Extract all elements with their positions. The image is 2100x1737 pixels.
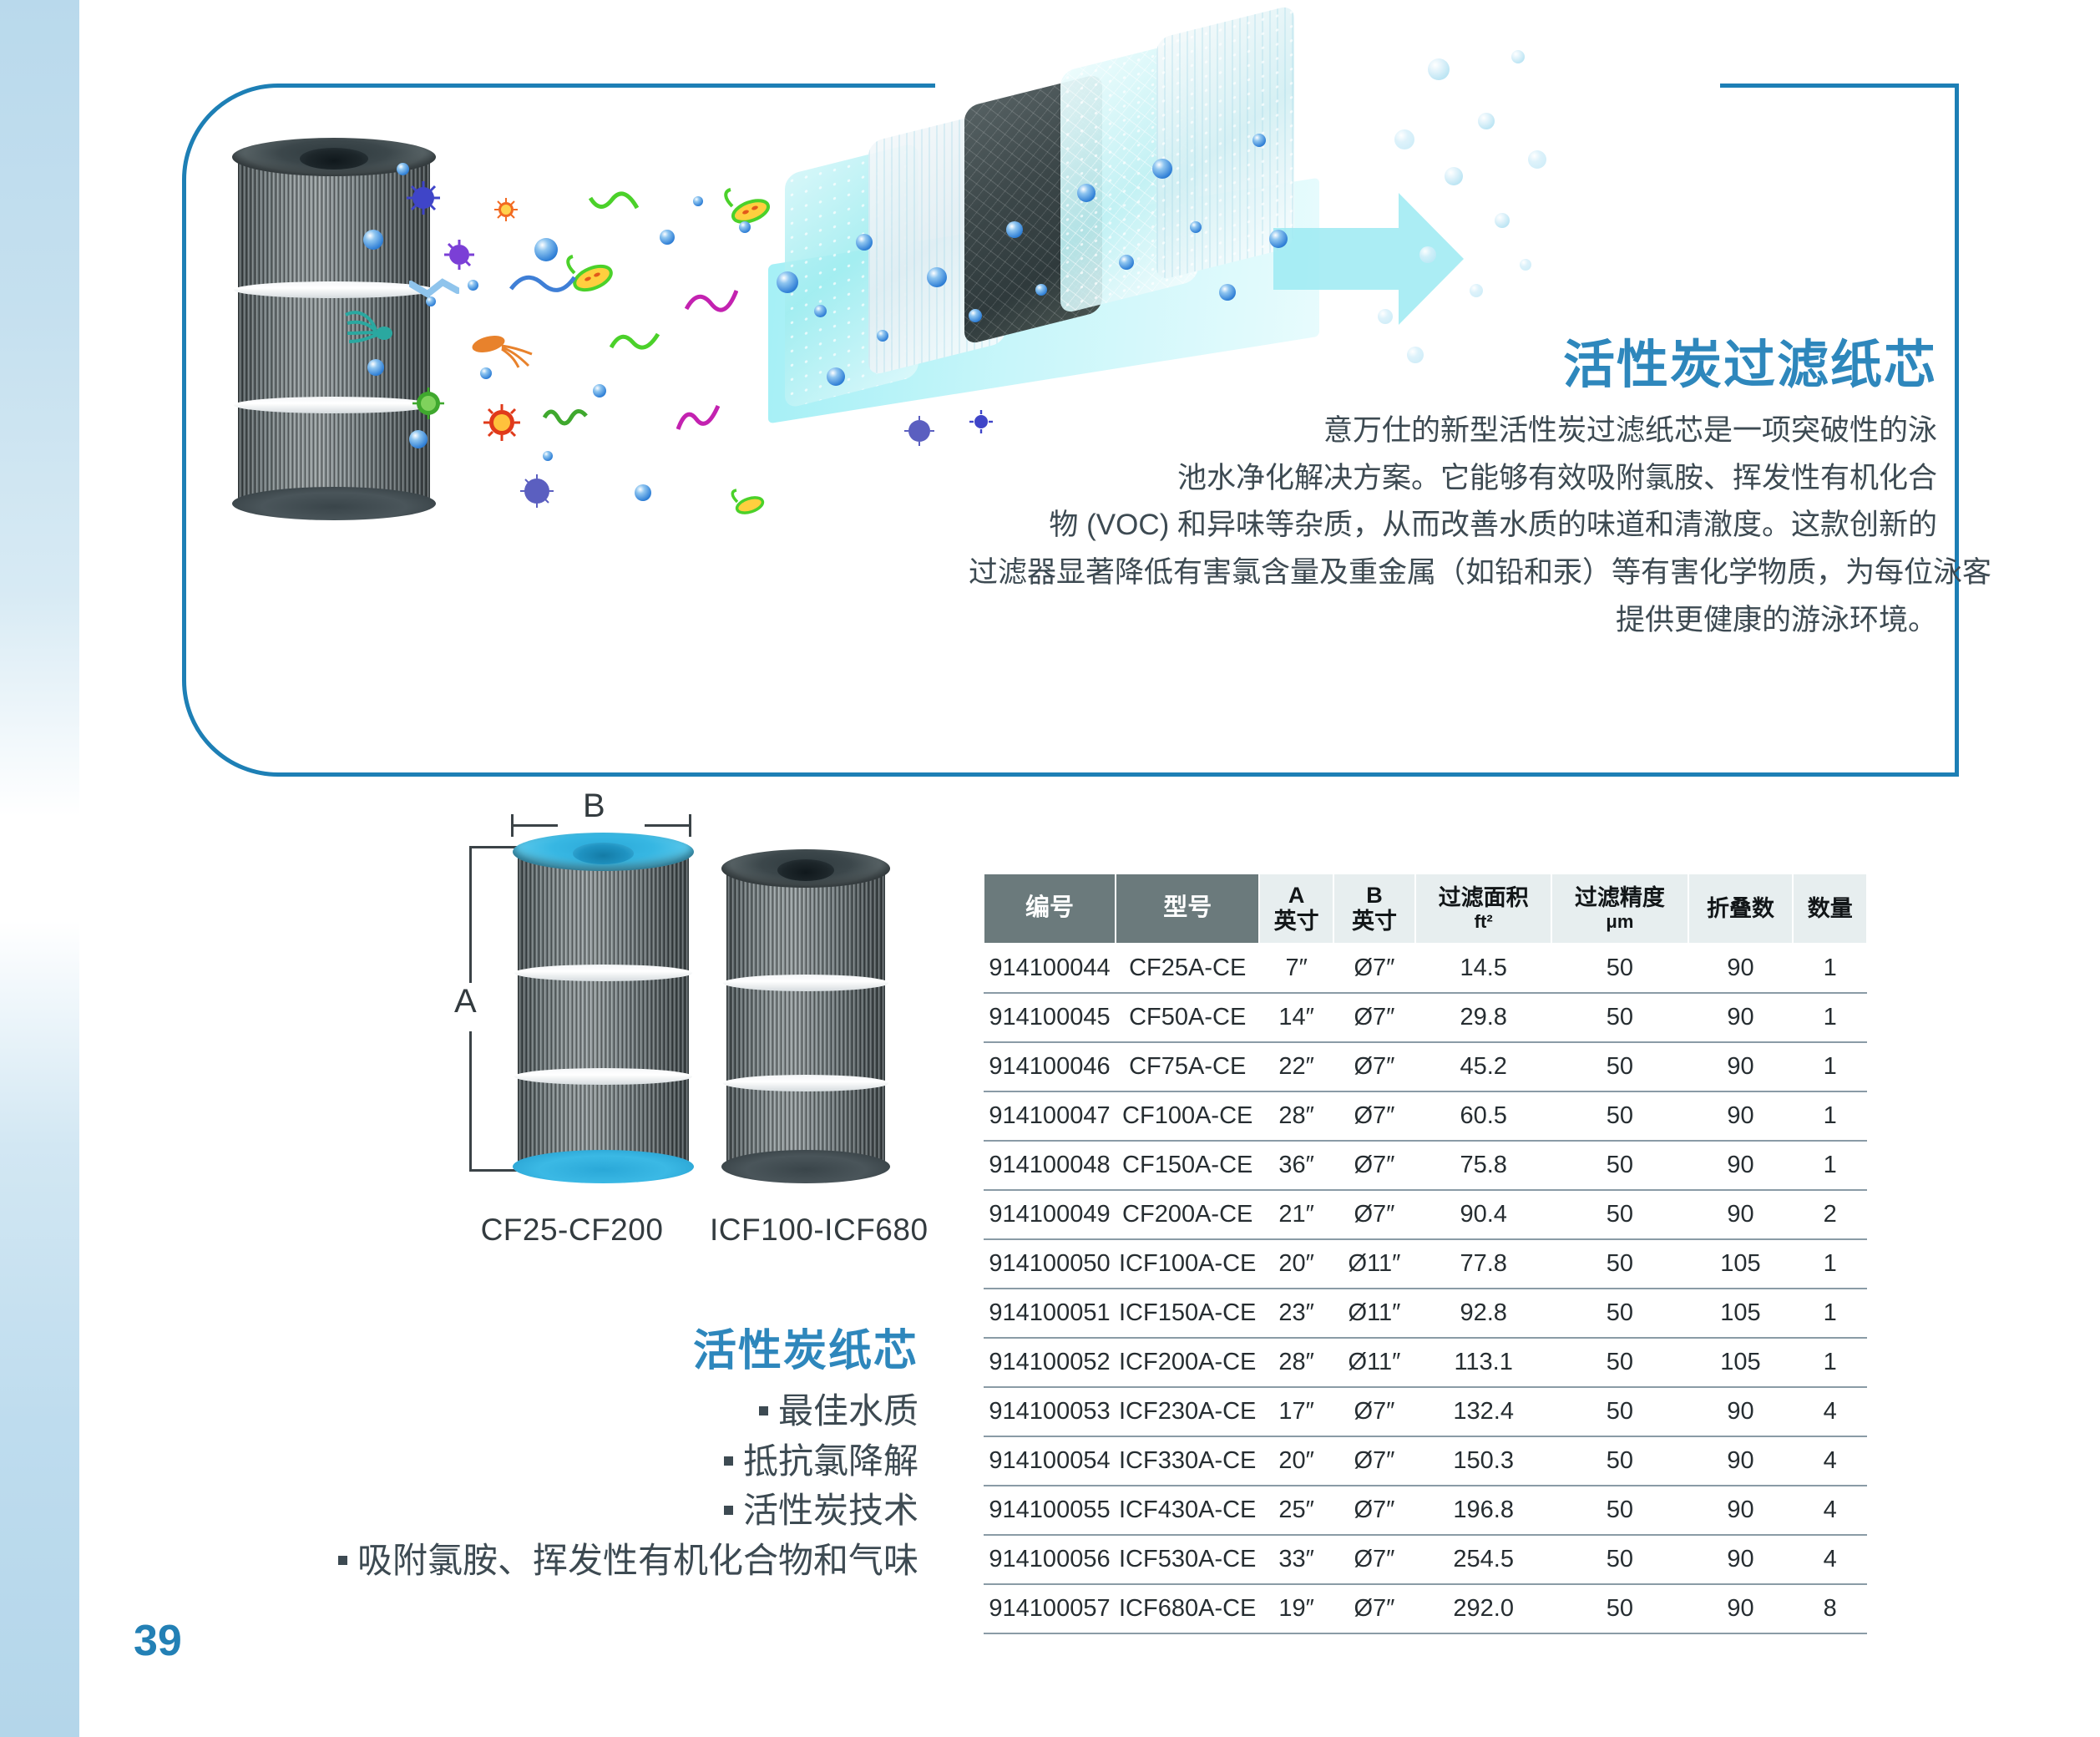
table-row: 914100049CF200A-CE21″Ø7″90.450902 xyxy=(984,1190,1867,1239)
table-cell: 50 xyxy=(1551,1091,1688,1141)
hero-copy-block: 活性炭过滤纸芯 意万仕的新型活性炭过滤纸芯是一项突破性的泳 池水净化解决方案。它… xyxy=(969,338,1937,645)
bubble xyxy=(693,196,703,206)
bubble xyxy=(363,230,383,250)
bubble xyxy=(877,330,888,342)
clean-bubble xyxy=(1470,284,1483,297)
table-cell: 50 xyxy=(1551,1239,1688,1289)
bubble xyxy=(534,238,558,261)
table-cell: 90 xyxy=(1688,1436,1794,1486)
specification-table: 编号型号A英寸B英寸过滤面积ft²过滤精度μm折叠数数量 914100044CF… xyxy=(983,873,1868,1634)
table-column-header: 折叠数 xyxy=(1688,874,1794,944)
table-cell: 1 xyxy=(1793,1239,1867,1289)
dim-a-label: A xyxy=(454,983,477,1020)
table-cell: 914100055 xyxy=(984,1486,1116,1535)
table-row: 914100048CF150A-CE36″Ø7″75.850901 xyxy=(984,1141,1867,1190)
cartridge-band-upper xyxy=(234,281,433,298)
table-cell: 17″ xyxy=(1259,1387,1333,1436)
cartridge-band-upper xyxy=(723,975,888,991)
caption-cf-series: CF25-CF200 xyxy=(468,1213,676,1248)
column-header-label: 过滤精度 xyxy=(1575,885,1665,910)
table-header: 编号型号A英寸B英寸过滤面积ft²过滤精度μm折叠数数量 xyxy=(984,874,1867,944)
table-column-header: 过滤面积ft² xyxy=(1415,874,1551,944)
feature-item-label: 最佳水质 xyxy=(778,1391,918,1431)
page-root: 活性炭过滤纸芯 意万仕的新型活性炭过滤纸芯是一项突破性的泳 池水净化解决方案。它… xyxy=(0,0,2100,1737)
table-cell: Ø11″ xyxy=(1333,1289,1415,1338)
hero-description-line: 意万仕的新型活性炭过滤纸芯是一项突破性的泳 xyxy=(969,408,1937,455)
table-cell: ICF150A-CE xyxy=(1116,1289,1259,1338)
table-cell: 113.1 xyxy=(1415,1338,1551,1387)
table-column-header: 数量 xyxy=(1793,874,1867,944)
table-cell: 90 xyxy=(1688,1387,1794,1436)
table-cell: 28″ xyxy=(1259,1091,1333,1141)
table-cell: 25″ xyxy=(1259,1486,1333,1535)
clean-bubble xyxy=(1445,167,1463,185)
table-cell: Ø7″ xyxy=(1333,1486,1415,1535)
table-cell: 50 xyxy=(1551,993,1688,1042)
cartridge-center-hole xyxy=(300,148,369,170)
table-cell: 1 xyxy=(1793,944,1867,993)
dim-a-tick-bottom xyxy=(469,1169,518,1172)
column-header-label: A xyxy=(1288,883,1305,908)
clean-bubble xyxy=(1495,213,1510,228)
bubble xyxy=(814,305,827,317)
feature-list-item: 最佳水质 xyxy=(167,1386,918,1436)
bacteria-icon xyxy=(726,489,768,517)
table-cell: 75.8 xyxy=(1415,1141,1551,1190)
table-cell: 105 xyxy=(1688,1239,1794,1289)
table-cell: 50 xyxy=(1551,1584,1688,1633)
table-cell: Ø7″ xyxy=(1333,944,1415,993)
table-cell: 914100053 xyxy=(984,1387,1116,1436)
bubble xyxy=(480,367,492,379)
table-cell: ICF330A-CE xyxy=(1116,1436,1259,1486)
table-body: 914100044CF25A-CE7″Ø7″14.550901914100045… xyxy=(984,944,1867,1633)
table-cell: 20″ xyxy=(1259,1239,1333,1289)
fiber-icon xyxy=(610,326,660,356)
table-cell: ICF200A-CE xyxy=(1116,1338,1259,1387)
table-cell: 36″ xyxy=(1259,1141,1333,1190)
bubble xyxy=(1269,230,1288,248)
bullet-square-icon xyxy=(338,1556,347,1565)
table-cell: 50 xyxy=(1551,1486,1688,1535)
clean-bubble xyxy=(1378,309,1393,324)
cartridge-series-captions: CF25-CF200 ICF100-ICF680 xyxy=(468,1213,985,1248)
table-row: 914100051ICF150A-CE23″Ø11″92.8501051 xyxy=(984,1289,1867,1338)
table-cell: CF50A-CE xyxy=(1116,993,1259,1042)
bubble xyxy=(856,234,873,251)
cartridge-band-lower xyxy=(514,1068,692,1085)
bubble xyxy=(426,296,436,306)
table-cell: ICF530A-CE xyxy=(1116,1535,1259,1584)
table-cell: 90 xyxy=(1688,1584,1794,1633)
table-cell: 50 xyxy=(1551,1289,1688,1338)
table-cell: 914100057 xyxy=(984,1584,1116,1633)
column-header-label: 折叠数 xyxy=(1707,896,1774,921)
cartridge-pleated-body xyxy=(726,866,885,1168)
table-cell: Ø11″ xyxy=(1333,1338,1415,1387)
feature-block: 活性炭纸芯 最佳水质 抵抗氯降解 活性炭技术 吸附氯胺、挥发性有机化合物和气味 xyxy=(167,1315,918,1586)
cartridge-band-upper xyxy=(514,965,692,981)
algae-icon xyxy=(543,401,590,433)
table-cell: 90.4 xyxy=(1415,1190,1551,1239)
cf-series-cartridge-image xyxy=(518,849,689,1168)
table-cell: 28″ xyxy=(1259,1338,1333,1387)
clean-bubble xyxy=(1528,150,1546,169)
table-cell: 914100048 xyxy=(984,1141,1116,1190)
bubble xyxy=(1219,284,1236,301)
hero-description-line: 过滤器显著降低有害氯含量及重金属（如铅和汞）等有害化学物质，为每位泳客 xyxy=(969,549,1937,597)
table-cell: 914100054 xyxy=(984,1436,1116,1486)
table-cell: 20″ xyxy=(1259,1436,1333,1486)
table-cell: 90 xyxy=(1688,1141,1794,1190)
table-cell: 23″ xyxy=(1259,1289,1333,1338)
table-cell: 50 xyxy=(1551,1535,1688,1584)
table-cell: 33″ xyxy=(1259,1535,1333,1584)
bubble xyxy=(1152,159,1172,179)
column-header-sublabel: 英寸 xyxy=(1338,909,1411,934)
table-cell: 90 xyxy=(1688,993,1794,1042)
spore-icon xyxy=(518,472,556,510)
table-cell: 1 xyxy=(1793,1338,1867,1387)
caption-icf-series: ICF100-ICF680 xyxy=(686,1213,953,1248)
column-header-label: 过滤面积 xyxy=(1439,885,1529,910)
table-cell: 50 xyxy=(1551,944,1688,993)
table-cell: 50 xyxy=(1551,1338,1688,1387)
hero-description: 意万仕的新型活性炭过滤纸芯是一项突破性的泳 池水净化解决方案。它能够有效吸附氯胺… xyxy=(969,408,1937,644)
table-cell: Ø7″ xyxy=(1333,1190,1415,1239)
table-cell: 90 xyxy=(1688,1042,1794,1091)
cartridge-center-hole xyxy=(777,859,834,881)
table-cell: 914100056 xyxy=(984,1535,1116,1584)
table-cell: 29.8 xyxy=(1415,993,1551,1042)
virus-icon xyxy=(493,196,519,223)
table-cell: 914100047 xyxy=(984,1091,1116,1141)
table-cell: CF25A-CE xyxy=(1116,944,1259,993)
table-cell: 914100045 xyxy=(984,993,1116,1042)
table-cell: CF200A-CE xyxy=(1116,1190,1259,1239)
column-header-unit: ft² xyxy=(1419,911,1547,932)
bubble xyxy=(593,384,606,398)
clean-water-arrow-icon xyxy=(1273,180,1465,338)
protozoa-icon xyxy=(342,305,409,352)
table-cell: 19″ xyxy=(1259,1584,1333,1633)
bubble xyxy=(1252,134,1266,147)
virus-icon xyxy=(443,238,476,271)
virus-icon xyxy=(405,180,442,216)
table-cell: 92.8 xyxy=(1415,1289,1551,1338)
bubble xyxy=(739,221,751,233)
feature-list-item: 活性炭技术 xyxy=(167,1486,918,1536)
table-column-header: B英寸 xyxy=(1333,874,1415,944)
table-row: 914100052ICF200A-CE28″Ø11″113.1501051 xyxy=(984,1338,1867,1387)
bubble xyxy=(1077,184,1096,202)
table-cell: 14.5 xyxy=(1415,944,1551,993)
clean-bubble xyxy=(1428,58,1450,80)
cartridge-pleated-body xyxy=(518,849,689,1168)
table-row: 914100057ICF680A-CE19″Ø7″292.050908 xyxy=(984,1584,1867,1633)
table-cell: ICF100A-CE xyxy=(1116,1239,1259,1289)
table-cell: 21″ xyxy=(1259,1190,1333,1239)
table-row: 914100045CF50A-CE14″Ø7″29.850901 xyxy=(984,993,1867,1042)
table-cell: 90 xyxy=(1688,1535,1794,1584)
bubble xyxy=(635,484,651,501)
table-cell: 914100051 xyxy=(984,1289,1116,1338)
table-cell: 7″ xyxy=(1259,944,1333,993)
icf-series-cartridge-image xyxy=(726,866,885,1168)
table-cell: Ø7″ xyxy=(1333,1535,1415,1584)
feature-item-label: 抵抗氯降解 xyxy=(743,1441,918,1481)
cartridge-band-lower xyxy=(723,1075,888,1091)
table-cell: 50 xyxy=(1551,1042,1688,1091)
table-cell: 105 xyxy=(1688,1338,1794,1387)
table-cell: 914100050 xyxy=(984,1239,1116,1289)
table-row: 914100054ICF330A-CE20″Ø7″150.350904 xyxy=(984,1436,1867,1486)
bubble xyxy=(468,280,478,291)
table-cell: 132.4 xyxy=(1415,1387,1551,1436)
bubble xyxy=(1190,221,1202,233)
table-cell: 4 xyxy=(1793,1436,1867,1486)
table-cell: 90 xyxy=(1688,1091,1794,1141)
bacteria-flagella-icon xyxy=(463,326,534,369)
table-cell: 14″ xyxy=(1259,993,1333,1042)
table-cell: 105 xyxy=(1688,1289,1794,1338)
table-cell: 292.0 xyxy=(1415,1584,1551,1633)
bubble xyxy=(1035,284,1047,296)
page-title: 活性炭过滤纸芯 xyxy=(969,338,1937,392)
bullet-square-icon xyxy=(724,1506,733,1515)
table-row: 914100053ICF230A-CE17″Ø7″132.450904 xyxy=(984,1387,1867,1436)
clean-bubble xyxy=(1511,50,1525,63)
bubble xyxy=(397,163,409,175)
table-cell: Ø7″ xyxy=(1333,1436,1415,1486)
table-row: 914100056ICF530A-CE33″Ø7″254.550904 xyxy=(984,1535,1867,1584)
clean-bubble xyxy=(1394,129,1414,149)
table-cell: 50 xyxy=(1551,1141,1688,1190)
bubble xyxy=(827,367,845,386)
table-row: 914100046CF75A-CE22″Ø7″45.250901 xyxy=(984,1042,1867,1091)
feature-list-item: 吸附氯胺、挥发性有机化合物和气味 xyxy=(167,1536,918,1586)
table-cell: 50 xyxy=(1551,1387,1688,1436)
spore-icon xyxy=(902,413,937,448)
table-cell: Ø7″ xyxy=(1333,1584,1415,1633)
table-row: 914100050ICF100A-CE20″Ø11″77.8501051 xyxy=(984,1239,1867,1289)
hero-description-line: 物 (VOC) 和异味等杂质，从而改善水质的味道和清澈度。这款创新的 xyxy=(969,502,1937,549)
table-cell: Ø7″ xyxy=(1333,1091,1415,1141)
table-cell: ICF680A-CE xyxy=(1116,1584,1259,1633)
table-cell: 50 xyxy=(1551,1190,1688,1239)
table-cell: Ø7″ xyxy=(1333,993,1415,1042)
dim-a-tick-top xyxy=(469,846,518,848)
bubble xyxy=(969,309,982,322)
hero-description-line: 池水净化解决方案。它能够有效吸附氯胺、挥发性有机化合 xyxy=(969,455,1937,503)
feature-item-label: 吸附氯胺、挥发性有机化合物和气味 xyxy=(357,1541,918,1580)
fiber-icon xyxy=(676,401,720,434)
feature-title: 活性炭纸芯 xyxy=(167,1315,918,1378)
table-cell: CF150A-CE xyxy=(1116,1141,1259,1190)
cartridge-band-lower xyxy=(234,397,433,413)
table-cell: 1 xyxy=(1793,1141,1867,1190)
table-cell: Ø7″ xyxy=(1333,1141,1415,1190)
table-row: 914100044CF25A-CE7″Ø7″14.550901 xyxy=(984,944,1867,993)
table-cell: 60.5 xyxy=(1415,1091,1551,1141)
bubble xyxy=(777,271,798,293)
virus-icon xyxy=(480,401,524,444)
bubble xyxy=(543,451,553,461)
table-cell: 914100044 xyxy=(984,944,1116,993)
spore-icon xyxy=(409,384,448,423)
bubble xyxy=(1119,255,1134,270)
hero-description-line: 提供更健康的游泳环境。 xyxy=(969,597,1937,645)
clean-bubble xyxy=(1419,246,1436,263)
table-cell: 1 xyxy=(1793,1289,1867,1338)
column-header-label: 型号 xyxy=(1163,894,1212,921)
column-header-sublabel: 英寸 xyxy=(1263,909,1329,934)
cartridge-bottom-cap xyxy=(513,1150,694,1183)
table-cell: Ø11″ xyxy=(1333,1239,1415,1289)
cartridge-bottom-cap xyxy=(721,1150,889,1183)
table-cell: Ø7″ xyxy=(1333,1387,1415,1436)
dim-b-label: B xyxy=(583,787,605,825)
column-header-label: 编号 xyxy=(1025,894,1074,921)
table-header-row: 编号型号A英寸B英寸过滤面积ft²过滤精度μm折叠数数量 xyxy=(984,874,1867,944)
dim-b-tick-right xyxy=(689,814,691,837)
bubble xyxy=(367,359,384,376)
table-cell: 1 xyxy=(1793,993,1867,1042)
bubble xyxy=(1006,221,1023,238)
table-cell: 90 xyxy=(1688,1486,1794,1535)
fiber-icon xyxy=(589,188,639,221)
table-column-header: 过滤精度μm xyxy=(1551,874,1688,944)
fiber-icon xyxy=(685,284,738,319)
cartridge-bottom-cap xyxy=(232,487,436,520)
bubble xyxy=(660,230,675,245)
cartridge-dimension-diagram: B A xyxy=(451,798,985,1232)
feature-list: 最佳水质 抵抗氯降解 活性炭技术 吸附氯胺、挥发性有机化合物和气味 xyxy=(167,1386,918,1586)
table-cell: CF75A-CE xyxy=(1116,1042,1259,1091)
bullet-square-icon xyxy=(759,1406,768,1415)
table-cell: 77.8 xyxy=(1415,1239,1551,1289)
column-header-unit: μm xyxy=(1556,911,1683,932)
table-cell: 1 xyxy=(1793,1091,1867,1141)
table-column-header: 型号 xyxy=(1116,874,1259,944)
table-cell: 4 xyxy=(1793,1535,1867,1584)
table-cell: 45.2 xyxy=(1415,1042,1551,1091)
feature-list-item: 抵抗氯降解 xyxy=(167,1436,918,1486)
bubble xyxy=(409,430,428,448)
table-cell: 22″ xyxy=(1259,1042,1333,1091)
table-cell: 254.5 xyxy=(1415,1535,1551,1584)
table-cell: 2 xyxy=(1793,1190,1867,1239)
table-cell: Ø7″ xyxy=(1333,1042,1415,1091)
dim-b-tick-left xyxy=(511,814,514,837)
table-column-header: A英寸 xyxy=(1259,874,1333,944)
table-cell: ICF430A-CE xyxy=(1116,1486,1259,1535)
clean-bubble xyxy=(1520,259,1531,271)
table-cell: 90 xyxy=(1688,1190,1794,1239)
cartridge-center-hole xyxy=(573,843,635,864)
column-header-label: B xyxy=(1366,883,1383,908)
table-cell: 914100052 xyxy=(984,1338,1116,1387)
table-cell: 196.8 xyxy=(1415,1486,1551,1535)
table-cell: 1 xyxy=(1793,1042,1867,1091)
table-cell: 4 xyxy=(1793,1387,1867,1436)
page-edge-gradient-strip xyxy=(0,0,79,1737)
bullet-square-icon xyxy=(724,1456,733,1466)
table-cell: 8 xyxy=(1793,1584,1867,1633)
table-cell: CF100A-CE xyxy=(1116,1091,1259,1141)
table-cell: 914100049 xyxy=(984,1190,1116,1239)
table-cell: 150.3 xyxy=(1415,1436,1551,1486)
table-column-header: 编号 xyxy=(984,874,1116,944)
table-row: 914100047CF100A-CE28″Ø7″60.550901 xyxy=(984,1091,1867,1141)
bubble xyxy=(927,267,947,287)
table-row: 914100055ICF430A-CE25″Ø7″196.850904 xyxy=(984,1486,1867,1535)
clean-bubble xyxy=(1478,113,1495,129)
table-cell: 914100046 xyxy=(984,1042,1116,1091)
table-cell: 4 xyxy=(1793,1486,1867,1535)
feature-item-label: 活性炭技术 xyxy=(743,1491,918,1530)
table-cell: ICF230A-CE xyxy=(1116,1387,1259,1436)
column-header-label: 数量 xyxy=(1808,896,1853,921)
fiber-icon xyxy=(509,267,576,301)
table-cell: 50 xyxy=(1551,1436,1688,1486)
table-cell: 90 xyxy=(1688,944,1794,993)
page-number: 39 xyxy=(134,1616,182,1666)
